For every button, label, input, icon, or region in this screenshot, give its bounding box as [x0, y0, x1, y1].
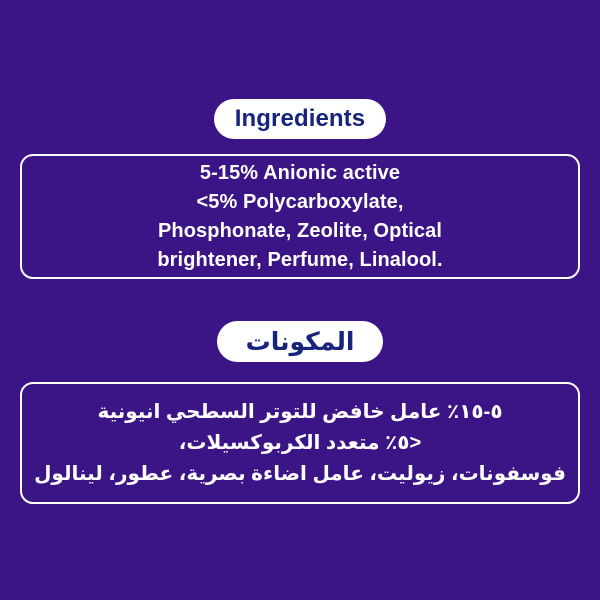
- ingredient-line: فوسفونات، زيوليت، عامل اضاءة بصرية، عطور…: [34, 459, 566, 490]
- ingredients-heading-label-en: Ingredients: [235, 105, 365, 133]
- ingredient-line: brightener, Perfume, Linalool.: [157, 246, 442, 275]
- ingredients-heading-label-ar: المكونات: [246, 327, 355, 357]
- ingredients-heading-badge-en: Ingredients: [214, 99, 386, 139]
- ingredient-line: <5% Polycarboxylate,: [196, 188, 403, 217]
- ingredients-panel: Ingredients 5-15% Anionic active <5% Pol…: [0, 0, 600, 600]
- ingredient-line: <٥٪ متعدد الكربوكسيلات،: [179, 428, 421, 459]
- ingredients-card-en: 5-15% Anionic active <5% Polycarboxylate…: [20, 154, 580, 279]
- ingredients-card-ar: ٥-١٥٪ عامل خافض للتوتر السطحي انيونية <٥…: [20, 382, 580, 504]
- ingredients-heading-badge-ar: المكونات: [217, 321, 383, 362]
- ingredient-line: Phosphonate, Zeolite, Optical: [158, 217, 442, 246]
- ingredient-line: ٥-١٥٪ عامل خافض للتوتر السطحي انيونية: [97, 397, 502, 428]
- ingredient-line: 5-15% Anionic active: [200, 159, 400, 188]
